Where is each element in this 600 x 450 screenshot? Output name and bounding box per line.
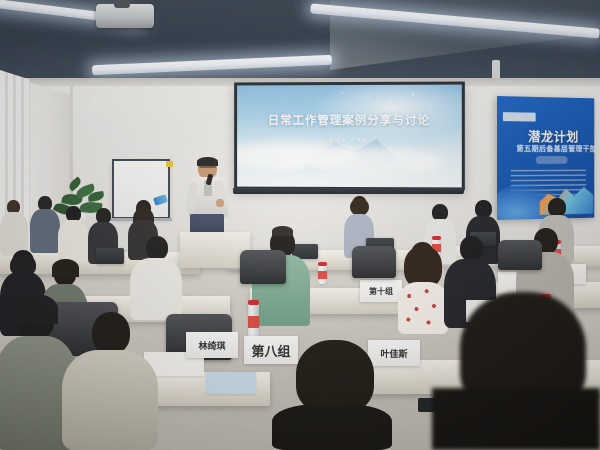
projector-lens-icon [114, 0, 130, 8]
slide-title: 日常工作管理案例分享与讨论 [237, 111, 462, 127]
slide-image: 日常工作管理案例分享与讨论 主讲人 罗伟强 [237, 85, 462, 188]
projection-screen-bottom-bar [233, 188, 464, 194]
name-card-label: 第十组 [369, 286, 393, 297]
attendee-back-1 [30, 196, 60, 254]
laptop [96, 248, 124, 264]
water-bottle [248, 300, 259, 338]
chair [498, 240, 542, 270]
banner-pill [536, 156, 568, 164]
name-card-label: 林绮琪 [198, 339, 225, 352]
banner-subtitle: 第五期后备基层管理干部 [516, 143, 594, 154]
attendee-back-3 [58, 206, 88, 262]
attendee-mid-3 [130, 236, 182, 320]
chair [352, 246, 396, 278]
slide-subtitle: 主讲人 罗伟强 [237, 138, 462, 144]
slide-cloud-2 [313, 148, 444, 175]
attendee-front-3 [272, 344, 392, 450]
meeting-room-photo: 日常工作管理案例分享与讨论 主讲人 罗伟强 潜龙计划 第五期后备基层管理干部 [0, 0, 600, 450]
attendee-front-4 [432, 292, 600, 450]
water-bottle [318, 262, 327, 284]
banner-logo-icon [503, 112, 536, 121]
glasses-icon [199, 165, 216, 168]
attendee-back-2 [0, 200, 28, 256]
chair [240, 250, 286, 284]
handout [206, 372, 256, 394]
presenter [186, 158, 230, 240]
attendee-front-2 [62, 312, 158, 450]
projection-screen: 日常工作管理案例分享与讨论 主讲人 罗伟强 [234, 82, 465, 191]
table-name-card: 林绮琪 [186, 332, 238, 358]
sticky-note [166, 161, 173, 167]
